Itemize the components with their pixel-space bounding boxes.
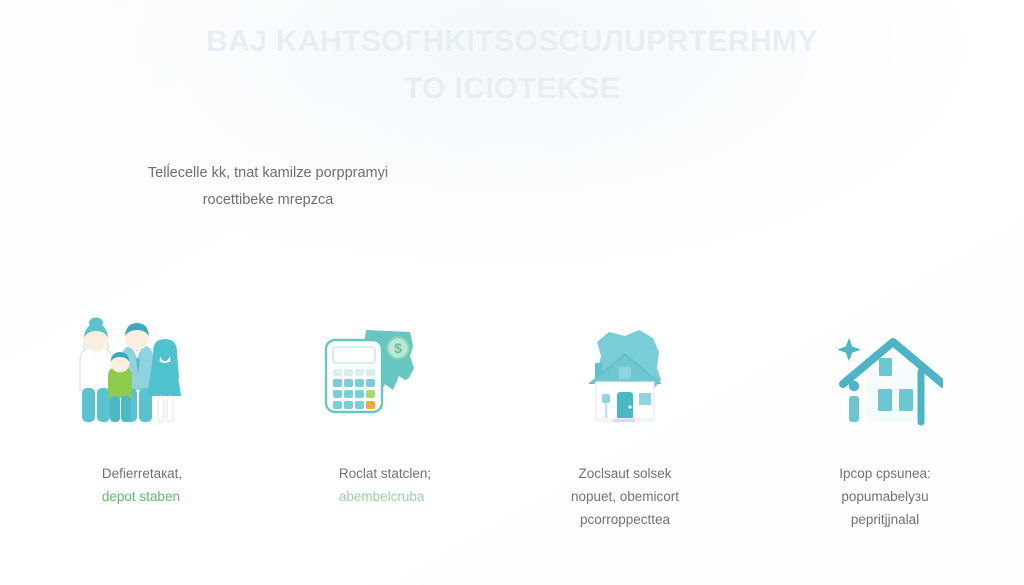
feature-caption-line: pepritjjnalal xyxy=(839,508,931,531)
page-title-line-1: BAJ KAHTSOГHKITSOSCUЛUPRTERHMY xyxy=(0,22,1024,62)
feature-caption-line: pcorroppecttea xyxy=(571,508,679,531)
feature-caption-line: Roclat statclen; xyxy=(339,462,431,485)
feature-row: Defierretaкat, depot staben $ xyxy=(28,308,996,532)
feature-caption-line: Zoclsaut solsek xyxy=(571,462,679,485)
feature-caption: Ipcop cpsunea: popumabelyзu pepritjjnala… xyxy=(839,462,931,532)
feature-caption-line-accent: abembelcruba xyxy=(339,485,431,508)
slide-canvas: BAJ KAHTSOГHKITSOSCUЛUPRTERHMY TO ICIOTE… xyxy=(0,0,1024,585)
feature-caption-line: Defierretaкat, xyxy=(102,462,182,485)
feature-caption-line: Ipcop cpsunea: xyxy=(839,462,931,485)
feature-item-calculator[interactable]: $ xyxy=(270,308,512,508)
feature-caption: Roclat statclen; abembelcruba xyxy=(339,462,431,508)
feature-caption: Defierretaкat, depot staben xyxy=(102,462,182,508)
feature-item-house-outline[interactable]: Ipcop cpsunea: popumabelyзu pepritjjnala… xyxy=(754,308,996,532)
house-map-icon xyxy=(569,308,681,430)
intro-paragraph-line-2: rocettibeke mrepzca xyxy=(118,187,418,214)
page-title: BAJ KAHTSOГHKITSOSCUЛUPRTERHMY TO ICIOTE… xyxy=(0,22,1024,108)
feature-item-family[interactable]: Defierretaкat, depot staben xyxy=(28,308,270,508)
calculator-money-icon: $ xyxy=(314,308,432,430)
feature-caption-line-accent: depot staben xyxy=(102,485,182,508)
feature-caption: Zoclsaut solsek nopuet, obemicort pcorro… xyxy=(571,462,679,532)
feature-caption-line: popumabelyзu xyxy=(839,485,931,508)
house-sparkle-outline-icon xyxy=(827,308,943,430)
intro-paragraph-line-1: Telĺecelle kk, tnat kamilze porppramyi xyxy=(118,160,418,187)
page-title-line-2: TO ICIOTEKSE xyxy=(0,69,1024,109)
feature-caption-line: nopuet, obemicort xyxy=(571,485,679,508)
feature-item-house-map[interactable]: Zoclsaut solsek nopuet, obemicort pcorro… xyxy=(512,308,754,532)
intro-paragraph: Telĺecelle kk, tnat kamilze porppramyi r… xyxy=(118,160,418,214)
family-illustration-icon xyxy=(66,308,188,430)
svg-text:$: $ xyxy=(394,340,402,356)
